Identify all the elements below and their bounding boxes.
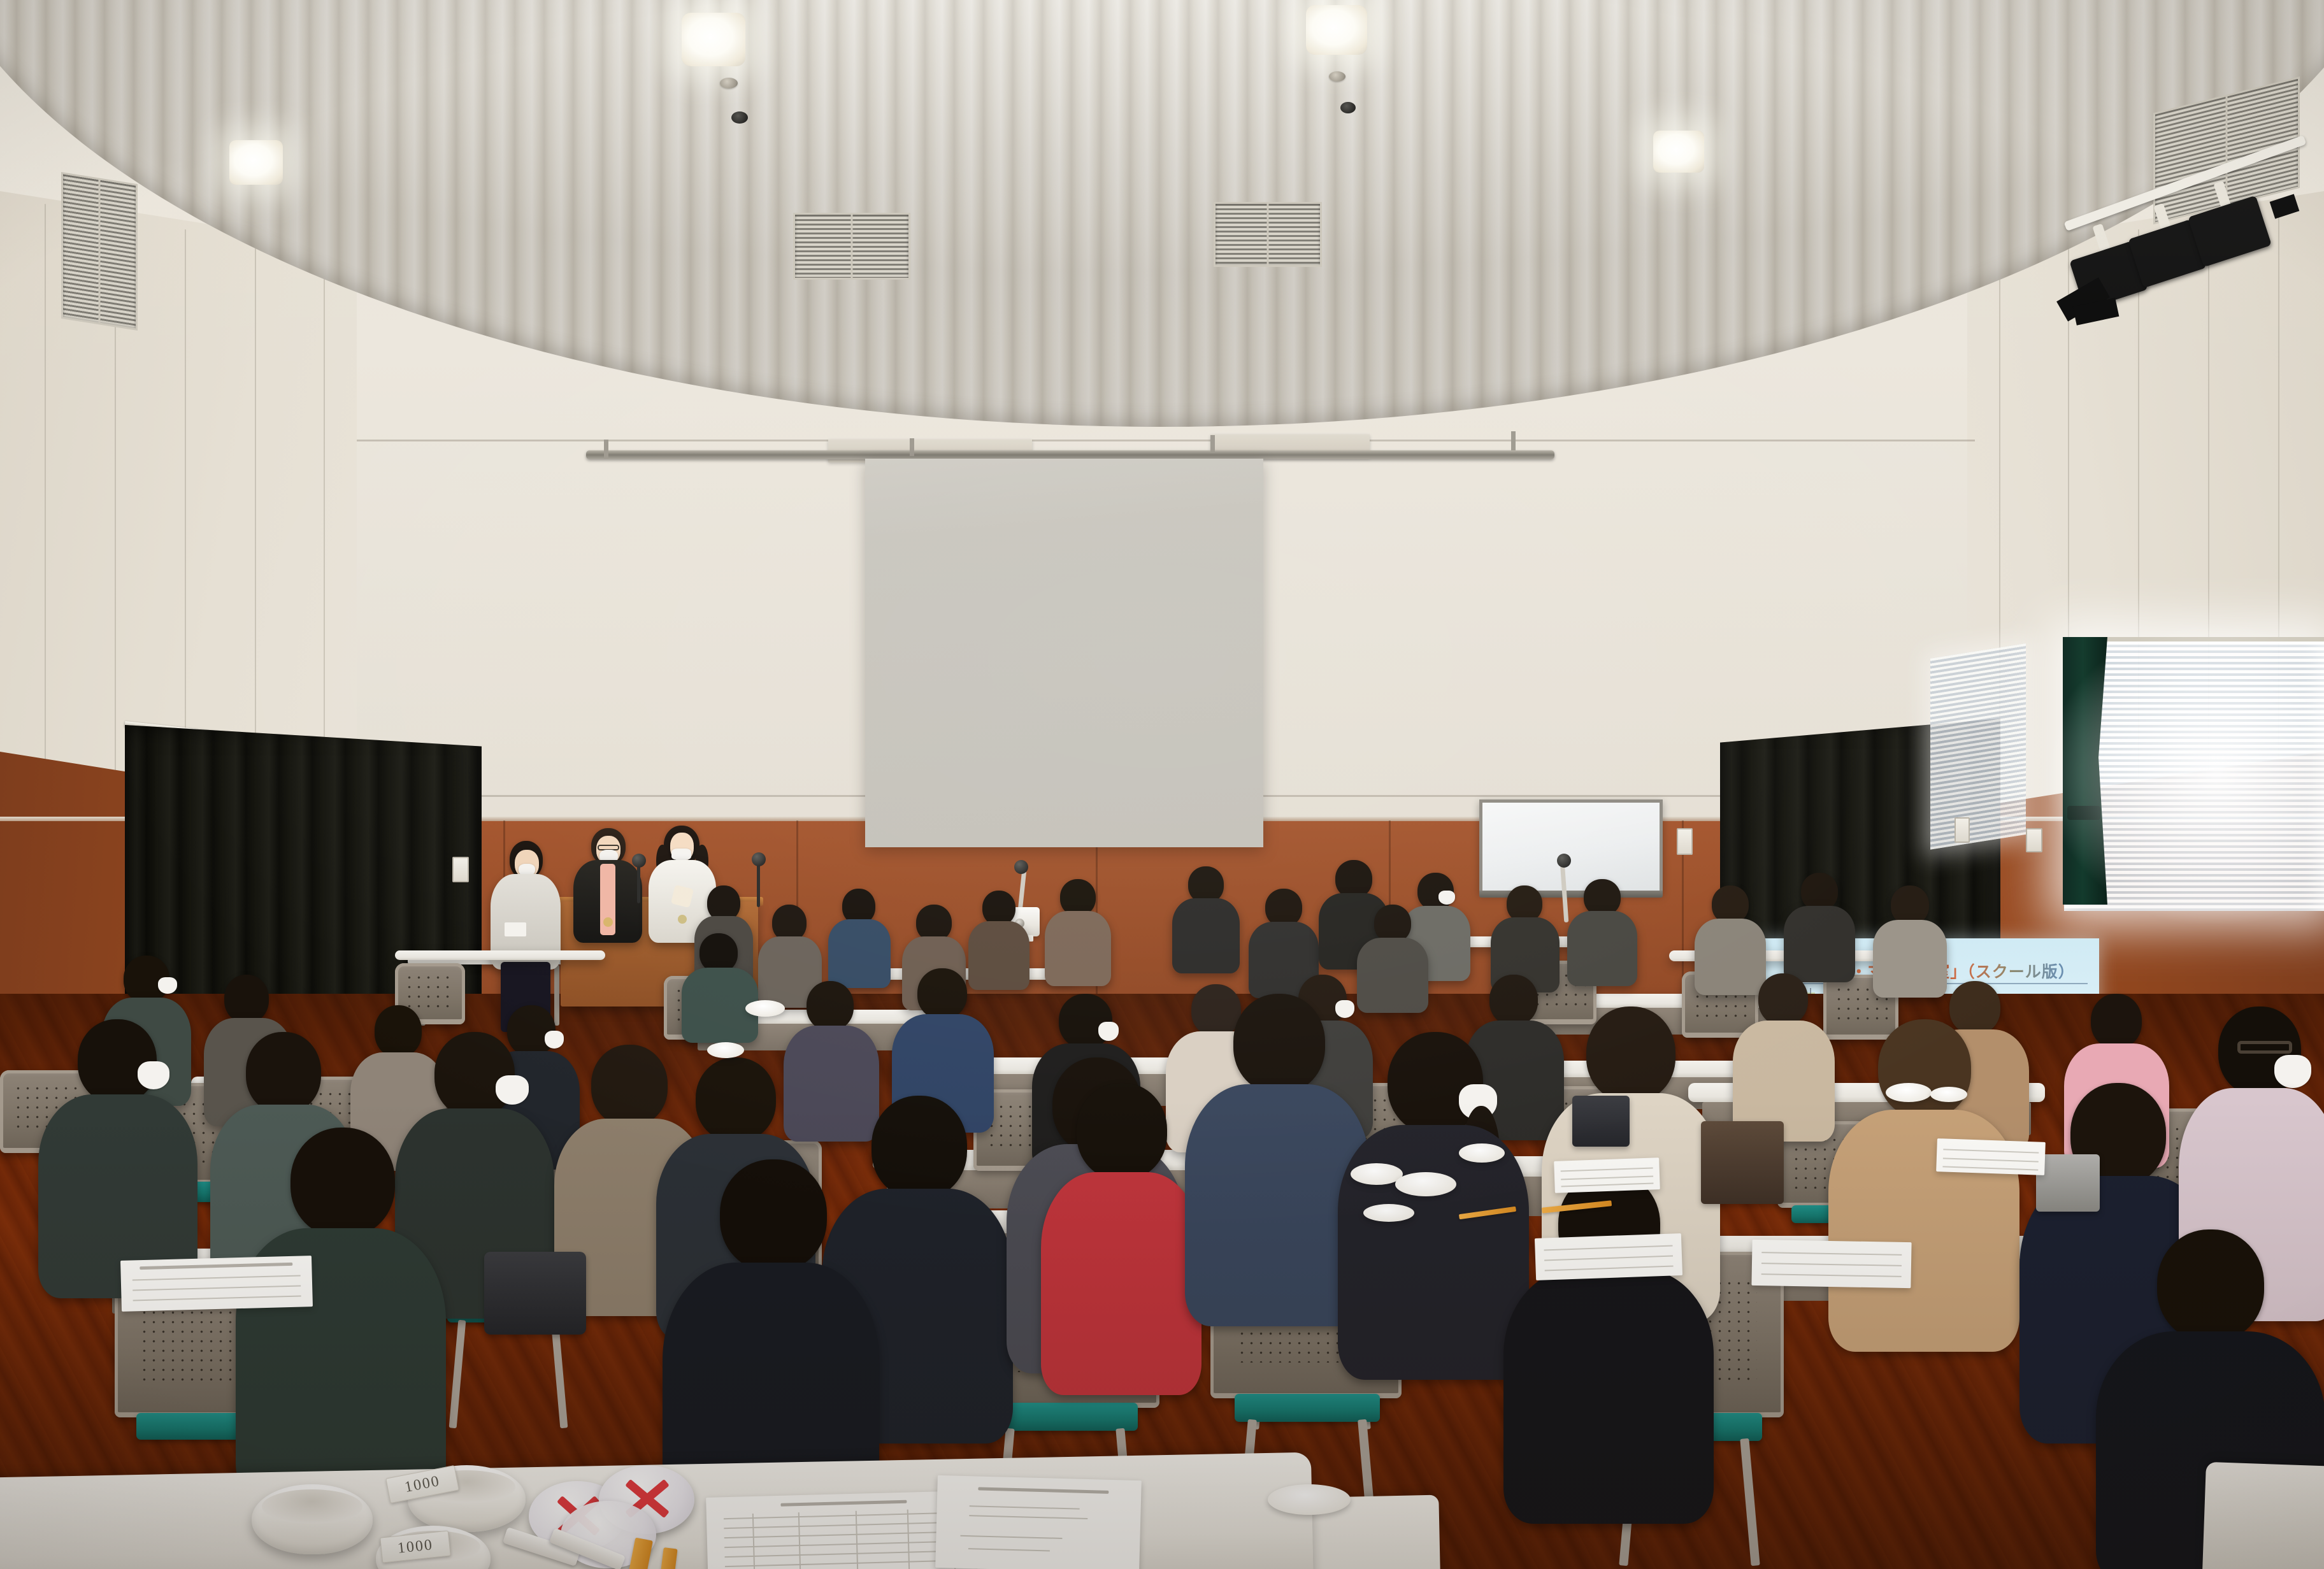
foreground-table-right: [2202, 1462, 2324, 1569]
chair-seat: [1235, 1394, 1380, 1422]
lanyard-badge: [603, 917, 613, 927]
wall-vent-right: [1214, 202, 1322, 267]
attendee: [1733, 973, 1835, 1136]
curtain-tieback: [2067, 806, 2100, 820]
handbag: [1701, 1121, 1784, 1204]
attendee: [1172, 866, 1240, 968]
worksheet[interactable]: [1554, 1157, 1660, 1193]
attendee: [1491, 885, 1560, 987]
microphone-head-icon[interactable]: [1557, 854, 1571, 868]
microphone-head-icon[interactable]: [632, 854, 646, 868]
wall-vent-left: [793, 213, 910, 280]
screen-support-rod: [604, 440, 608, 459]
chair-seat: [993, 1403, 1138, 1431]
attendee: [1045, 879, 1111, 981]
suitcase: [484, 1252, 586, 1335]
ceiling-speaker-icon: [720, 78, 738, 89]
ceiling-light-icon: [1653, 131, 1704, 173]
wall-seam: [324, 252, 325, 775]
table-row-back: [395, 950, 605, 960]
wall-seam: [255, 241, 256, 776]
glasses-icon: [2237, 1041, 2292, 1054]
screen-support-rod: [1511, 431, 1516, 450]
face-mask-chin-icon: [671, 849, 691, 860]
paper-bowl: [1459, 1143, 1505, 1163]
ceiling-light-icon: [682, 13, 745, 66]
ceiling-sprinkler-icon: [1340, 102, 1356, 113]
worksheet[interactable]: [1936, 1138, 2046, 1175]
paper-bowl: [707, 1042, 744, 1058]
attendee: [1873, 885, 1947, 992]
wall-outlet-plate[interactable]: [452, 857, 469, 882]
bowl-interior: [262, 1489, 362, 1524]
ceiling-sprinkler-icon: [731, 111, 748, 124]
paper-plate: [1395, 1172, 1456, 1196]
ceiling-light-icon: [1306, 5, 1367, 55]
attendee-child: [1032, 1083, 1210, 1389]
attendee: [1503, 1172, 1714, 1503]
wall-vent-sidewall-left: [61, 172, 138, 331]
attendee: [682, 933, 758, 1038]
paper-bowl: [745, 1000, 785, 1017]
wall-switch-plate[interactable]: [1955, 817, 1970, 843]
ceiling-light-icon: [229, 140, 283, 185]
tote-bag: [2036, 1154, 2100, 1212]
attendee: [1784, 873, 1855, 977]
microphone-head-icon[interactable]: [1014, 860, 1028, 874]
presenter-left: [491, 841, 561, 1019]
paper-bowl: [1930, 1087, 1967, 1102]
worksheet[interactable]: [120, 1256, 313, 1312]
seminar-room-photo: 「キッズ・マネー教室」（スクール版） ～ミニセミナー＆キッズ・マネーゲーム～ ご…: [0, 0, 2324, 1569]
wall-switch-plate[interactable]: [2026, 828, 2042, 852]
ceiling-speaker-icon: [1329, 71, 1345, 82]
paper-bowl: [252, 1484, 373, 1554]
backpack: [1572, 1096, 1630, 1147]
attendee: [828, 889, 891, 984]
worksheet[interactable]: [1535, 1233, 1682, 1280]
wall-seam: [185, 229, 186, 777]
attendee: [1567, 879, 1637, 981]
wall-reveal-line-upper: [357, 440, 1975, 441]
window-secondary: [1930, 643, 2026, 850]
paper-plate: [1268, 1484, 1351, 1515]
worksheet[interactable]: [1751, 1240, 1911, 1288]
screen-hanging-rail: [586, 450, 1554, 459]
screen-support-rod: [910, 438, 914, 456]
presenter-center: [573, 828, 642, 943]
wall-switch-plate[interactable]: [1677, 828, 1693, 855]
attendee: [38, 1019, 197, 1287]
attendee: [1338, 1032, 1529, 1363]
projection-screen: 「キッズ・マネー教室」（スクール版） ～ミニセミナー＆キッズ・マネーゲーム～ ご…: [865, 459, 1263, 847]
wall-seam: [45, 204, 46, 777]
screen-support-rod: [1210, 435, 1215, 453]
paper-bowl: [1886, 1083, 1932, 1102]
name-badge: [505, 922, 526, 936]
microphone-stand[interactable]: [757, 861, 760, 907]
worksheet-handout[interactable]: [935, 1475, 1142, 1569]
microphone-head-icon[interactable]: [752, 852, 766, 866]
paper-plate: [1363, 1204, 1414, 1222]
attendee: [1828, 1019, 2019, 1338]
lanyard-badge: [678, 915, 687, 924]
